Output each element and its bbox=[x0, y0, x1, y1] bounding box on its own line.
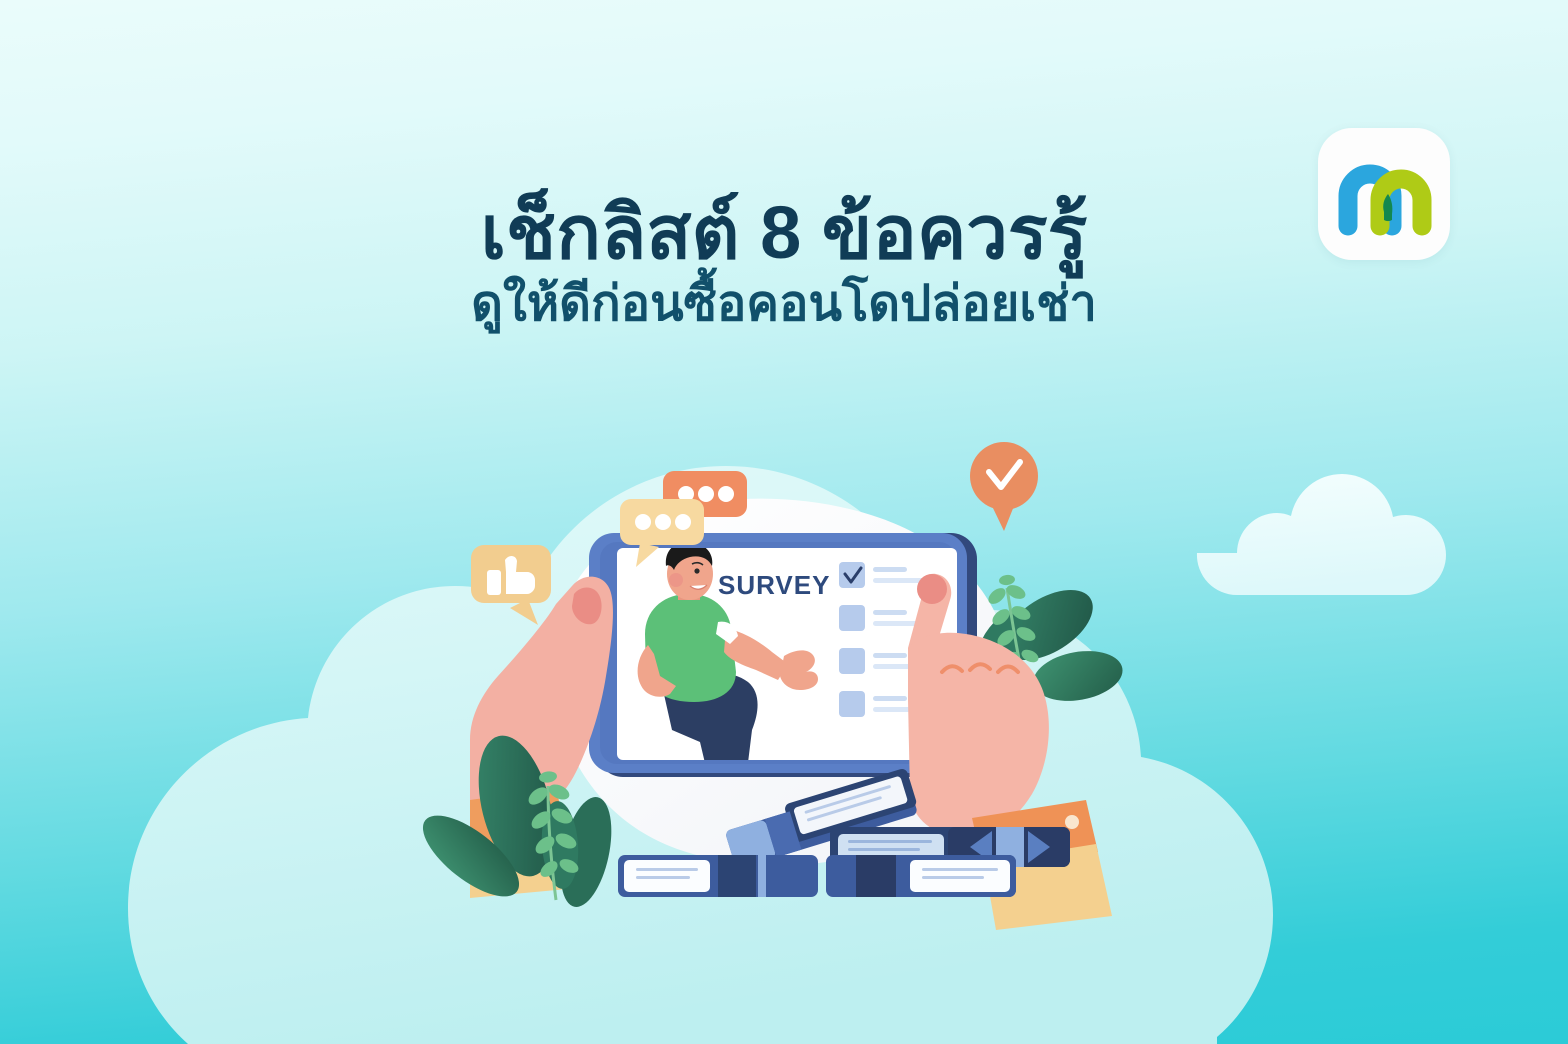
checkbox-1[interactable] bbox=[839, 562, 865, 588]
poster-canvas: เช็กลิสต์ 8 ข้อควรรู้ ดูให้ดีก่อนซื้อคอน… bbox=[0, 0, 1568, 1044]
checkbox-4[interactable] bbox=[839, 691, 865, 717]
dot-icon bbox=[698, 486, 714, 502]
thumbs-up-bubble bbox=[471, 545, 551, 625]
dot-icon bbox=[655, 514, 671, 530]
checkbox-3[interactable] bbox=[839, 648, 865, 674]
dot-icon bbox=[718, 486, 734, 502]
m-logo-icon bbox=[1318, 128, 1450, 260]
screen-title: SURVEY bbox=[718, 570, 830, 600]
page-subtitle: ดูให้ดีก่อนซื้อคอนโดปล่อยเช่า bbox=[0, 278, 1568, 332]
checkbox-2[interactable] bbox=[839, 605, 865, 631]
dot-icon bbox=[675, 514, 691, 530]
brand-logo[interactable] bbox=[1318, 128, 1450, 260]
check-pin-badge bbox=[970, 442, 1038, 531]
dot-icon bbox=[635, 514, 651, 530]
